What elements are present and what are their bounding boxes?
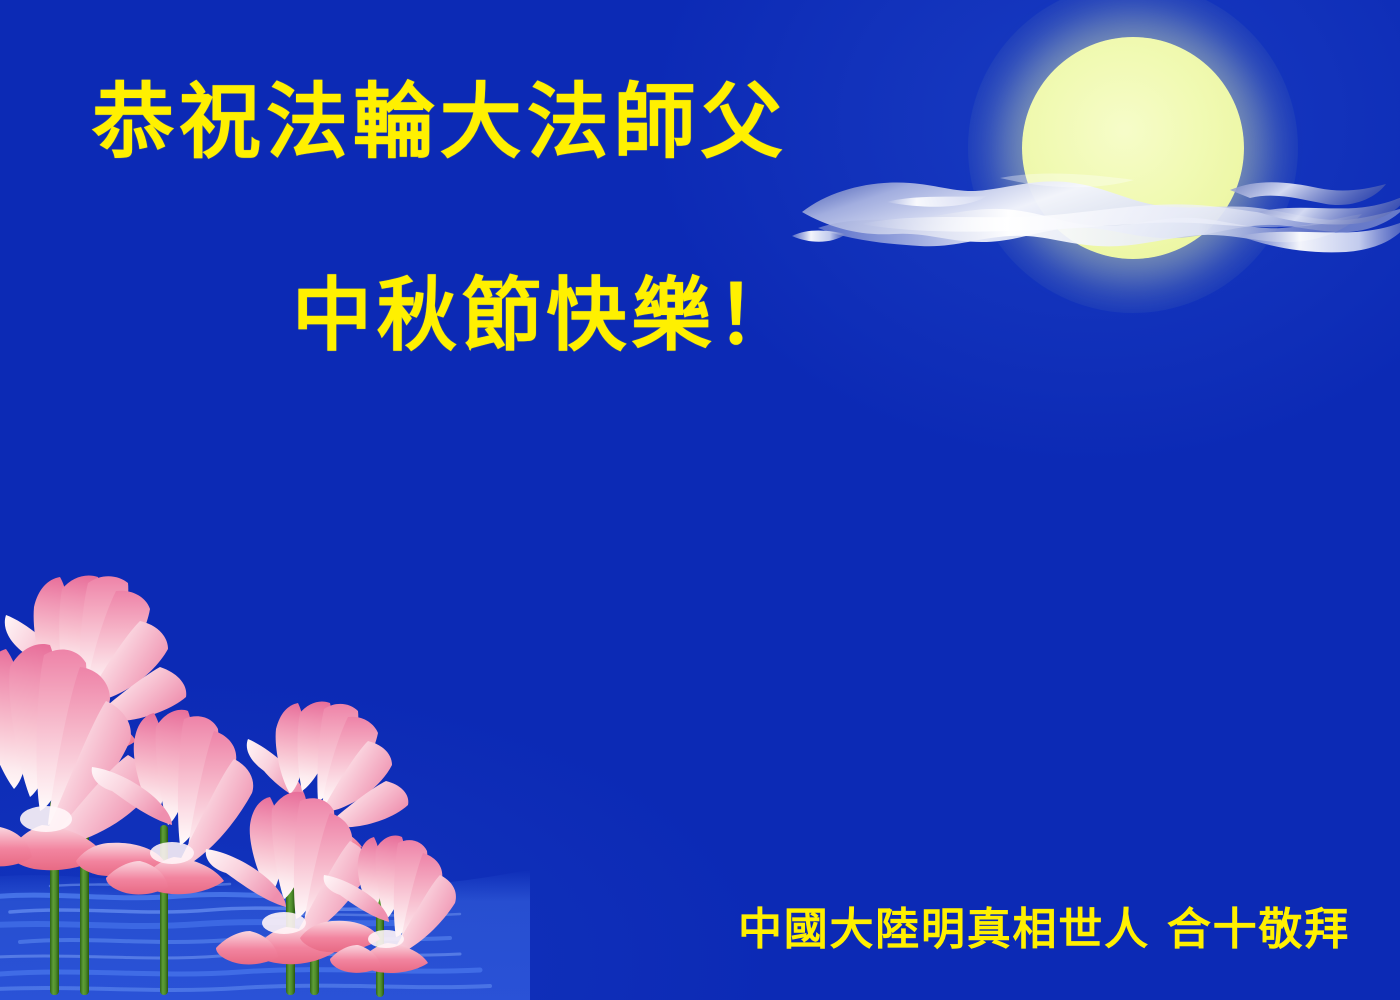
signature-text: 中國大陸明真相世人 合十敬拜 [738,908,1350,952]
greeting-line-1: 恭祝法輪大法師父 [92,82,787,164]
greeting-card: 恭祝法輪大法師父 中秋節快樂！ 中國大陸明真相世人 合十敬拜 [0,0,1400,1000]
moon-edge-halo [1009,24,1257,272]
greeting-line-2: 中秋節快樂！ [292,276,801,356]
